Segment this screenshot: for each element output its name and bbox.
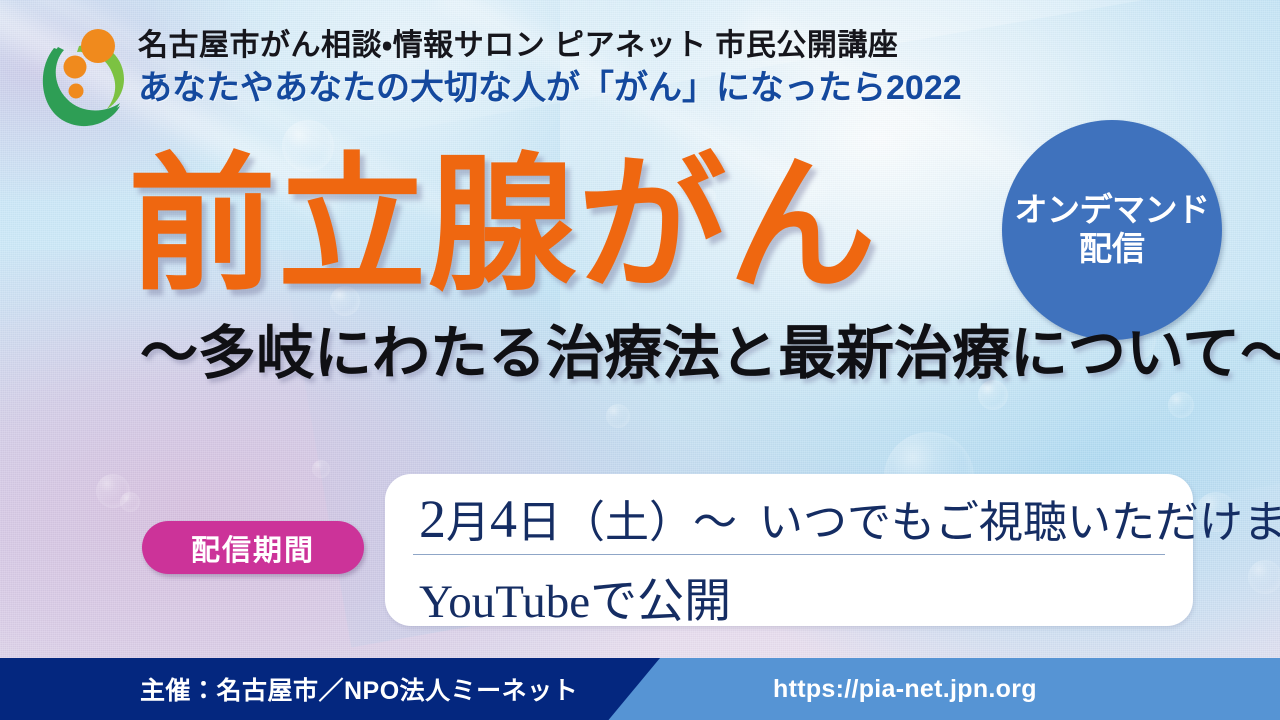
on-demand-badge-line1: オンデマンド — [1015, 191, 1210, 230]
series-title-line: あなたやあなたの大切な人が「がん」になったら2022 — [138, 69, 962, 108]
on-demand-badge: オンデマンド 配信 — [1002, 120, 1222, 340]
main-title: 前立腺がん — [128, 152, 878, 300]
sub-title: 〜多岐にわたる治療法と最新治療について〜 — [140, 322, 1280, 387]
date-weekday: （土）〜 — [561, 498, 737, 547]
date-day-unit: 日 — [517, 498, 561, 547]
background-bubble — [606, 404, 630, 428]
platform-line: YouTubeで公開 — [419, 562, 731, 631]
background-bubble — [120, 492, 140, 512]
broadcast-period-badge: 配信期間 — [142, 521, 364, 574]
broadcast-info-card: 2月4日（土）〜 いつでもご視聴いただけます YouTubeで公開 — [385, 474, 1193, 626]
background-bubble — [312, 460, 330, 478]
date-month-number: 2 — [419, 489, 446, 549]
header-text-block: 名古屋市がん相談・情報サロン ピアネット 市民公開講座 あなたやあなたの大切な人… — [138, 28, 962, 108]
pia-net-swoosh-logo-icon — [34, 26, 138, 134]
footer-host-text: 主催：名古屋市／NPO法人ミーネット — [140, 658, 578, 720]
organizer-line: 名古屋市がん相談・情報サロン ピアネット 市民公開講座 — [138, 28, 962, 65]
availability-text: いつでもご視聴いただけます — [759, 498, 1280, 547]
on-demand-badge-line2: 配信 — [1079, 230, 1145, 269]
poster-canvas: 名古屋市がん相談・情報サロン ピアネット 市民公開講座 あなたやあなたの大切な人… — [0, 0, 1280, 720]
background-bubble — [1168, 392, 1194, 418]
info-card-divider — [413, 554, 1165, 555]
footer-bar: 主催：名古屋市／NPO法人ミーネット https://pia-net.jpn.o… — [0, 658, 1280, 720]
footer-website-url[interactable]: https://pia-net.jpn.org — [773, 658, 1037, 720]
background-bubble — [1248, 560, 1280, 594]
date-month-unit: 月 — [446, 498, 490, 547]
date-day-number: 4 — [490, 489, 517, 549]
broadcast-date-line: 2月4日（土）〜 いつでもご視聴いただけます — [419, 486, 1280, 550]
